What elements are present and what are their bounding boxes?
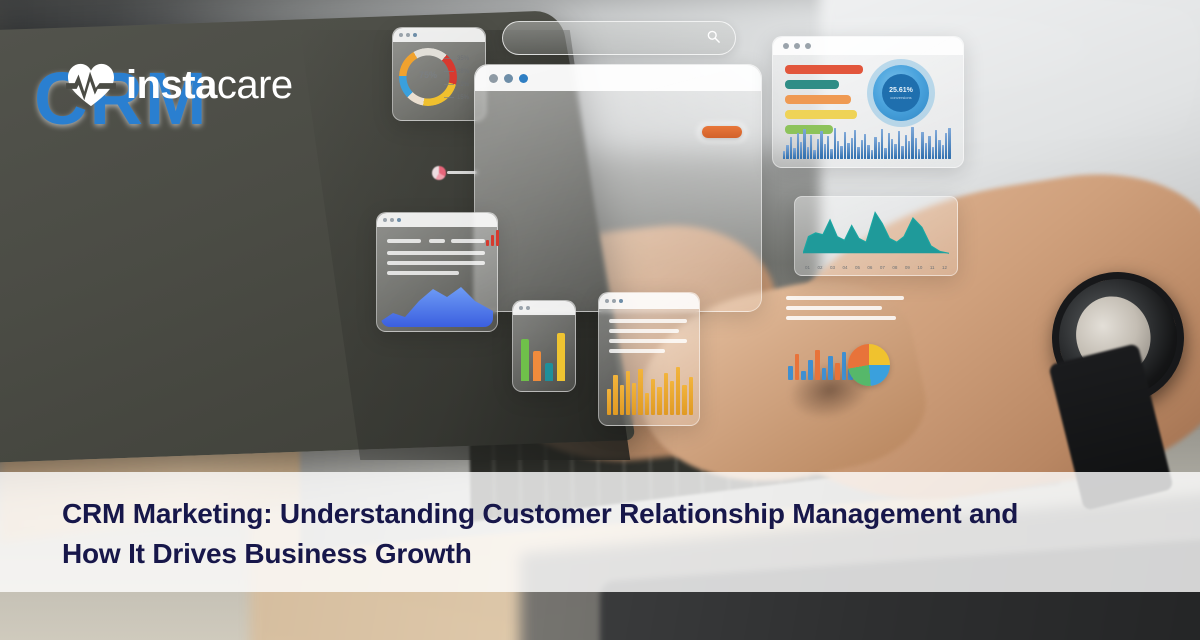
bar bbox=[785, 80, 839, 89]
brand-name-light: care bbox=[217, 63, 293, 107]
report-card-titlebar bbox=[377, 213, 497, 227]
percentage-gauge: 25.61% conversions bbox=[873, 65, 929, 121]
x-tick: 04 bbox=[842, 265, 847, 270]
report-line bbox=[387, 239, 421, 243]
bar bbox=[785, 110, 857, 119]
bar bbox=[785, 95, 851, 104]
x-tick: 08 bbox=[892, 265, 897, 270]
window-dot-1 bbox=[383, 218, 387, 222]
brand-logo[interactable]: instacare bbox=[66, 62, 293, 108]
legend-connector-icon bbox=[444, 58, 454, 59]
search-icon bbox=[706, 29, 721, 44]
legend-connector-icon bbox=[444, 97, 454, 98]
gauge-label: conversions bbox=[890, 95, 911, 100]
x-tick: 10 bbox=[917, 265, 922, 270]
gauge-value: 25.61% bbox=[889, 87, 913, 94]
window-dot-3 bbox=[397, 218, 401, 222]
window-dot-close[interactable] bbox=[489, 74, 498, 83]
legend-label: 15% bbox=[457, 95, 469, 101]
x-tick: 06 bbox=[867, 265, 872, 270]
x-tick: 05 bbox=[855, 265, 860, 270]
report-card[interactable] bbox=[376, 212, 498, 332]
x-tick: 03 bbox=[830, 265, 835, 270]
x-tick: 12 bbox=[942, 265, 947, 270]
window-dot-2 bbox=[406, 33, 410, 37]
legend-label: 28% bbox=[457, 69, 469, 75]
search-input[interactable] bbox=[502, 21, 736, 55]
bar bbox=[545, 363, 553, 381]
x-tick: 07 bbox=[880, 265, 885, 270]
hero-banner: 75% 35% 28% 22% 15% CRM bbox=[0, 0, 1200, 640]
legend-connector-icon bbox=[444, 84, 454, 85]
legend-connector-icon bbox=[444, 71, 454, 72]
window-dot-2 bbox=[526, 306, 530, 310]
x-tick: 11 bbox=[930, 265, 935, 270]
report-line bbox=[387, 251, 485, 255]
report-line bbox=[429, 239, 445, 243]
brand-wordmark: instacare bbox=[126, 65, 293, 105]
mini-bar-card-titlebar bbox=[513, 301, 575, 315]
bar bbox=[521, 339, 529, 381]
bar bbox=[557, 333, 565, 381]
donut-card-titlebar bbox=[393, 28, 485, 42]
sparkline-bar-chart bbox=[783, 125, 951, 159]
x-tick: 01 bbox=[805, 265, 810, 270]
heart-pulse-icon bbox=[66, 62, 116, 108]
window-dot-3 bbox=[413, 33, 417, 37]
window-dot-2 bbox=[612, 299, 616, 303]
legend-label: 22% bbox=[457, 82, 469, 88]
mini-pie-chart-icon bbox=[432, 166, 446, 180]
teal-chart-x-axis: 01 02 03 04 05 06 07 08 09 10 11 12 bbox=[805, 265, 947, 270]
user-card-text-lines bbox=[786, 296, 904, 326]
legend-label: 35% bbox=[457, 56, 469, 62]
window-dot-1 bbox=[519, 306, 523, 310]
mini-bar-chart-card[interactable] bbox=[512, 300, 576, 392]
multicolor-pie-chart bbox=[848, 344, 890, 386]
report-line bbox=[387, 261, 485, 265]
analytics-dashboard-card[interactable]: 25.61% conversions bbox=[772, 36, 964, 168]
x-tick: 02 bbox=[817, 265, 822, 270]
analytics-card-titlebar bbox=[773, 37, 963, 55]
window-dot-maximize[interactable] bbox=[519, 74, 528, 83]
amber-card-titlebar bbox=[599, 293, 699, 309]
donut-chart-card[interactable]: 75% 35% 28% 22% 15% bbox=[392, 27, 486, 121]
bar bbox=[785, 65, 863, 74]
crm-action-pill-button[interactable] bbox=[702, 126, 742, 138]
page-title: CRM Marketing: Understanding Customer Re… bbox=[62, 494, 1062, 574]
amber-bar-chart bbox=[607, 357, 693, 415]
report-line bbox=[387, 271, 459, 275]
legend-item: 35% bbox=[444, 52, 480, 65]
crm-window-titlebar bbox=[475, 65, 761, 91]
window-dot-minimize[interactable] bbox=[504, 74, 513, 83]
report-line bbox=[451, 239, 485, 243]
amber-text-lines bbox=[609, 319, 687, 359]
window-dot-2 bbox=[390, 218, 394, 222]
mini-pie-label bbox=[447, 171, 477, 174]
red-bar-chart-icon bbox=[486, 228, 502, 246]
teal-area-chart-card[interactable]: 01 02 03 04 05 06 07 08 09 10 11 12 bbox=[794, 196, 958, 276]
window-dot-3 bbox=[619, 299, 623, 303]
window-dot-1 bbox=[605, 299, 609, 303]
window-dot-2 bbox=[794, 43, 800, 49]
brand-name-bold: insta bbox=[126, 63, 217, 107]
teal-area-chart bbox=[803, 205, 949, 257]
amber-report-card[interactable] bbox=[598, 292, 700, 426]
crm-browser-window[interactable] bbox=[474, 64, 762, 312]
report-area-chart bbox=[381, 277, 493, 327]
mini-bar-chart bbox=[521, 325, 567, 381]
window-dot-1 bbox=[783, 43, 789, 49]
window-dot-1 bbox=[399, 33, 403, 37]
gauge-inner: 25.61% conversions bbox=[882, 74, 920, 112]
bar bbox=[533, 351, 541, 381]
x-tick: 09 bbox=[905, 265, 910, 270]
window-dot-3 bbox=[805, 43, 811, 49]
